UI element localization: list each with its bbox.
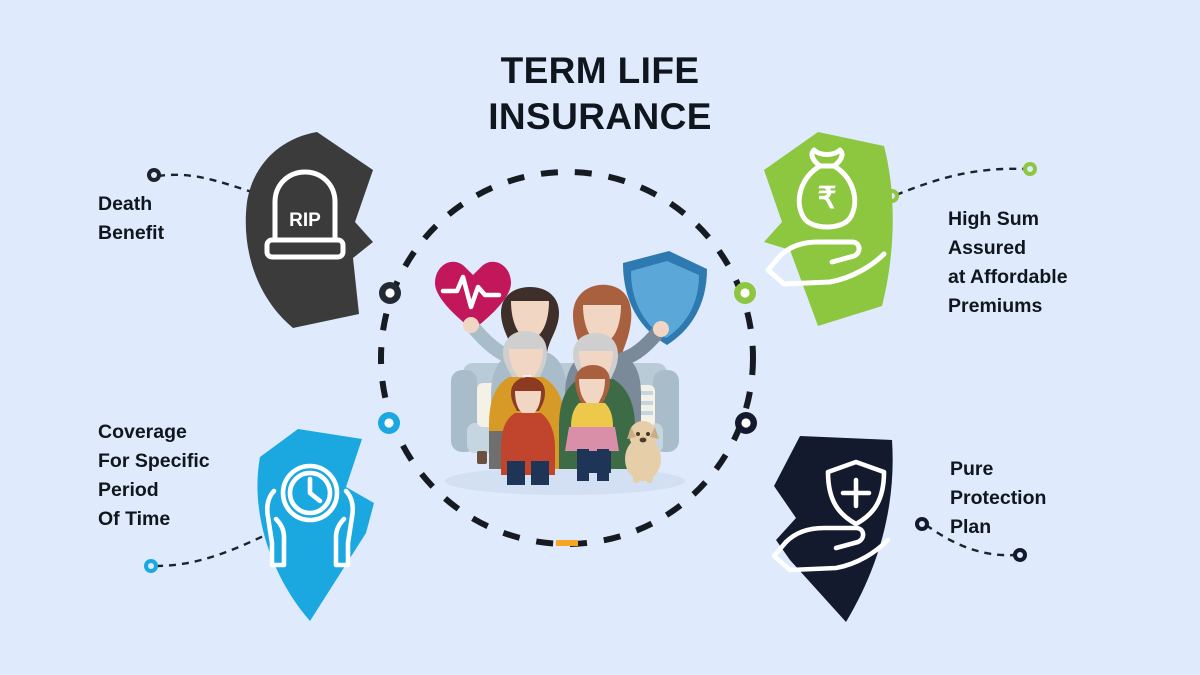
feature-coverage-period[interactable]: Coverage For Specific Period Of Time <box>60 420 400 630</box>
feature-label-death-benefit: Death Benefit <box>98 190 238 248</box>
feature-pure-protection[interactable]: Pure Protection Plan <box>750 420 1150 630</box>
banner-coverage-period[interactable] <box>240 425 380 625</box>
banner-shape <box>257 429 374 621</box>
feature-death-benefit[interactable]: Death Benefit RIP <box>60 130 390 330</box>
banner-pure-protection[interactable] <box>770 430 910 630</box>
banner-high-sum-assured[interactable]: ₹ <box>760 130 900 330</box>
banner-death-benefit[interactable]: RIP <box>235 130 375 330</box>
family-dog <box>625 421 661 483</box>
feature-label-pure-protection: Pure Protection Plan <box>950 455 1140 542</box>
feature-high-sum-assured[interactable]: High Sum Assured at Affordable Premiums … <box>750 130 1170 350</box>
rupee-symbol: ₹ <box>817 182 836 215</box>
sofa-leg-left <box>477 451 487 464</box>
title-line-1: TERM LIFE <box>340 48 860 94</box>
feature-label-high-sum-assured: High Sum Assured at Affordable Premiums <box>948 205 1158 320</box>
infographic-canvas: TERM LIFE INSURANCE <box>0 0 1200 675</box>
feature-label-coverage-period: Coverage For Specific Period Of Time <box>98 418 258 533</box>
tombstone-rip-text: RIP <box>289 210 321 231</box>
family-on-sofa-illustration <box>415 235 715 500</box>
page-title: TERM LIFE INSURANCE <box>340 48 860 141</box>
